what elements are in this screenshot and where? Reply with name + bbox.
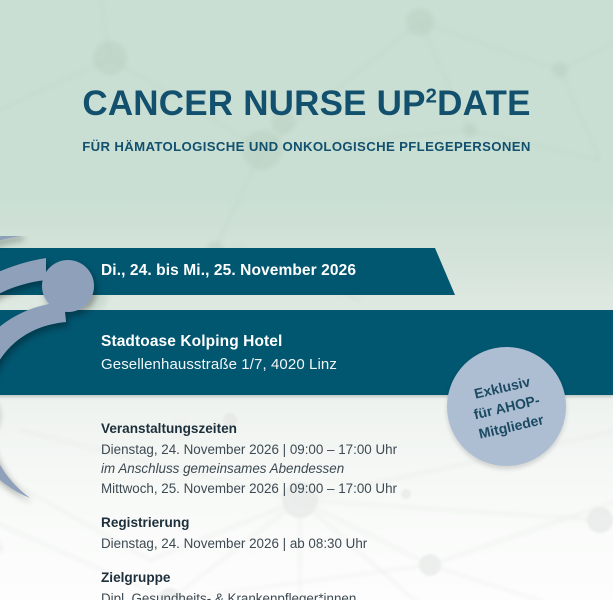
- detail-heading: Veranstaltungszeiten: [101, 419, 501, 439]
- title-tail: DATE: [437, 84, 530, 123]
- detail-line: Dipl. Gesundheits- & Krankenpfleger*inne…: [101, 589, 501, 600]
- detail-line: im Anschluss gemeinsames Abendessen: [101, 459, 501, 479]
- detail-group-zielgruppe: Zielgruppe Dipl. Gesundheits- & Krankenp…: [101, 568, 501, 600]
- title-main: CANCER NURSE UP: [82, 84, 425, 123]
- venue-address: Gesellenhausstraße 1/7, 4020 Linz: [101, 356, 337, 373]
- page-title: CANCER NURSE UP2DATE: [0, 86, 613, 121]
- detail-line: Dienstag, 24. November 2026 | ab 08:30 U…: [101, 534, 501, 554]
- detail-group-veranstaltungszeiten: Veranstaltungszeiten Dienstag, 24. Novem…: [101, 419, 501, 498]
- detail-heading: Zielgruppe: [101, 568, 501, 588]
- date-banner-text: Di., 24. bis Mi., 25. November 2026: [101, 262, 356, 280]
- event-details: Veranstaltungszeiten Dienstag, 24. Novem…: [101, 419, 501, 600]
- page-subtitle: FÜR HÄMATOLOGISCHE UND ONKOLOGISCHE PFLE…: [0, 139, 613, 154]
- detail-line: Mittwoch, 25. November 2026 | 09:00 – 17…: [101, 479, 501, 499]
- title-superscript: 2: [426, 85, 437, 107]
- event-poster: CANCER NURSE UP2DATE FÜR HÄMATOLOGISCHE …: [0, 0, 613, 600]
- detail-heading: Registrierung: [101, 513, 501, 533]
- detail-group-registrierung: Registrierung Dienstag, 24. November 202…: [101, 513, 501, 553]
- detail-line: Dienstag, 24. November 2026 | 09:00 – 17…: [101, 440, 501, 460]
- venue-name: Stadtoase Kolping Hotel: [101, 333, 282, 351]
